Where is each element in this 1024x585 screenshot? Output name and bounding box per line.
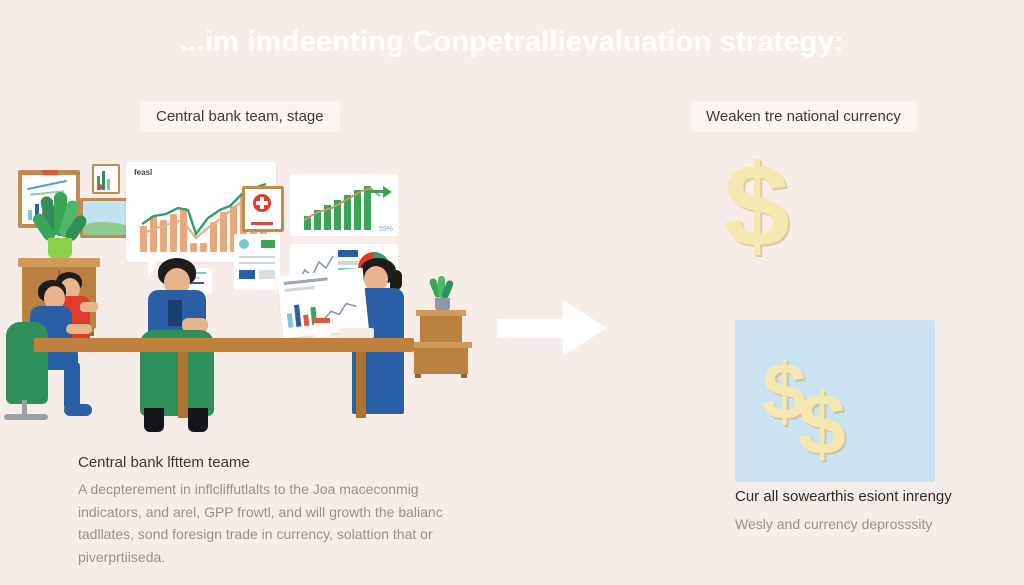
legs-center-2 (188, 408, 208, 432)
legs-center (144, 408, 164, 432)
poster-green-chart: 59% (290, 174, 398, 236)
meeting-table (34, 338, 414, 352)
right-caption-body: Wesly and currency deprosssity (735, 513, 1015, 536)
cabinet-right (410, 310, 472, 378)
meeting-illustration: feasl (8, 150, 478, 435)
table-leg (178, 352, 188, 418)
stage-label-left: Central bank team, stage (140, 101, 340, 132)
poster-percent-label: 59% (379, 226, 393, 233)
wall-frame-small (92, 164, 120, 194)
dollar-sign-large: $ (724, 147, 790, 265)
desk-paper-2 (94, 328, 138, 338)
board-speech-tail (148, 258, 158, 278)
poster-arrow-icon (383, 186, 392, 198)
chair-left-wheels (4, 414, 48, 420)
coffee-cup (314, 318, 330, 338)
chair-left (6, 322, 48, 404)
right-arrow-icon (497, 300, 607, 356)
plant-right (424, 278, 458, 312)
table-leg-2 (356, 352, 366, 418)
desk-paper (340, 328, 374, 338)
stage-label-right: Weaken tre national currency (690, 101, 917, 132)
left-caption-body: A decpterement in inflcliffutlalts to th… (78, 478, 478, 569)
dollar-sign-card-front: $ (798, 382, 846, 468)
left-caption-heading: Central bank lfttem teame (78, 454, 250, 471)
slide-canvas: ...im imdeenting Conpetrallievaluation s… (0, 0, 1024, 585)
page-title: ...im imdeenting Conpetrallievaluation s… (0, 26, 1024, 59)
poster-document (234, 234, 280, 290)
plant-left (30, 196, 88, 262)
poster-red-cross (242, 186, 284, 232)
right-caption-heading: Cur all sowearthis esiont inrengy (735, 488, 952, 505)
